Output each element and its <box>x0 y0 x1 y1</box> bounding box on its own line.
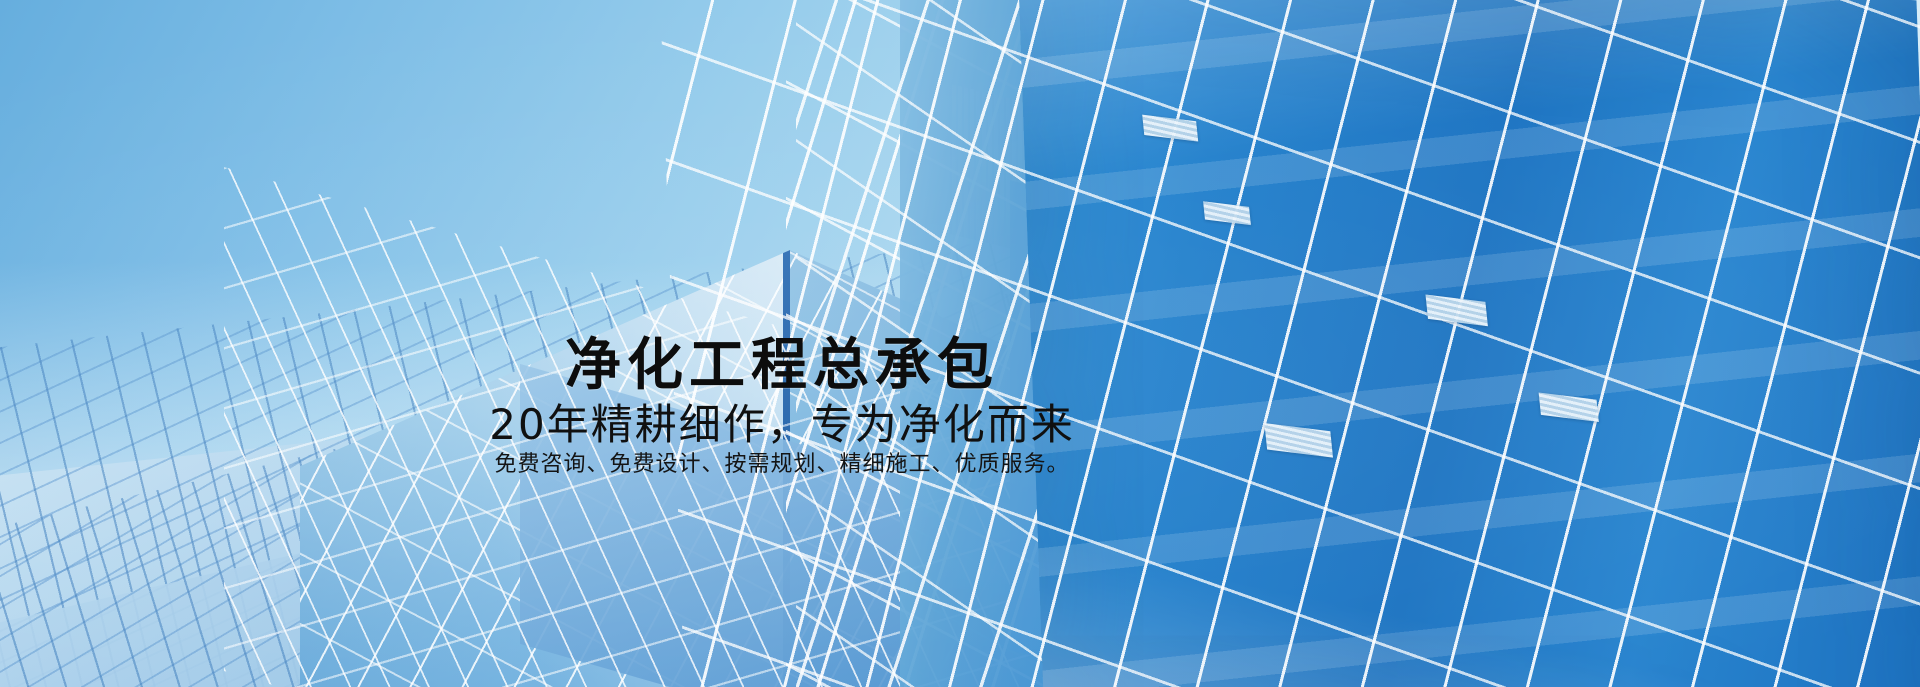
hero-banner: 净化工程总承包 20年精耕细作，专为净化而来 免费咨询、免费设计、按需规划、精细… <box>0 0 1920 687</box>
vignette-overlay <box>0 0 1920 687</box>
